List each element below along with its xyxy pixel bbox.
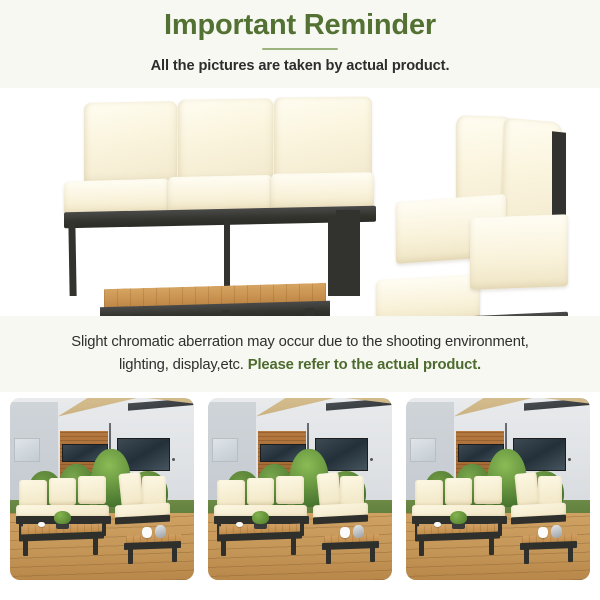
- thumb-coffee-table-leg-l: [23, 538, 29, 556]
- thumb-teacup: [236, 522, 243, 527]
- thumb-coffee-table-leg-r: [489, 536, 495, 554]
- thumb-side-table-leg-l: [326, 547, 332, 563]
- header-subtitle: All the pictures are taken by actual pro…: [151, 58, 450, 74]
- thumb-coffee-table-leg-r: [291, 536, 297, 554]
- sofa-leg-right: [328, 216, 336, 296]
- window-left: [410, 438, 436, 462]
- thumbnail-row: [0, 398, 600, 590]
- sofa-seat-cushion-3: [271, 172, 374, 210]
- chaise-seat-cushion-outer: [376, 274, 480, 316]
- sofa-back-cushion-1: [84, 101, 177, 185]
- wall-fixture-2: [370, 458, 373, 461]
- page-title: Important Reminder: [164, 10, 436, 42]
- thumb-coffee-table-leg-l: [221, 538, 227, 556]
- thumb-sofa-back-3: [276, 476, 304, 503]
- thumb-pitcher: [142, 527, 151, 538]
- disclaimer-text: Slight chromatic aberration may occur du…: [26, 331, 574, 377]
- thumb-sofa-back-1: [217, 480, 245, 507]
- sofa-back-cushion-2: [178, 98, 273, 183]
- thumb-sofa-back-1: [415, 480, 443, 507]
- thumb-coffee-table-leg-r: [93, 536, 99, 554]
- thumb-plant: [252, 511, 269, 524]
- header-band: Important Reminder All the pictures are …: [0, 0, 600, 88]
- sofa-back-cushion-3: [274, 97, 372, 184]
- thumb-chaise-back: [515, 472, 540, 507]
- thumb-side-table-leg-r: [568, 545, 574, 561]
- lifestyle-thumbnail-3[interactable]: [406, 398, 590, 580]
- thumb-teacup: [38, 522, 45, 527]
- thumb-chaise-back: [317, 472, 342, 507]
- wall-fixture-2: [568, 458, 571, 461]
- thumb-plant: [450, 511, 467, 524]
- sofa-side-panel: [336, 210, 360, 296]
- thumb-plant: [54, 511, 71, 524]
- coffee-table-leg-right: [305, 308, 314, 316]
- lifestyle-thumbnail-1[interactable]: [10, 398, 194, 580]
- lifestyle-thumbnail-2[interactable]: [208, 398, 392, 580]
- sofa-seat-cushion-2: [168, 175, 272, 212]
- thumb-side-table-leg-l: [524, 547, 530, 563]
- window-left: [14, 438, 40, 462]
- hero-product-image: [0, 88, 600, 316]
- disclaimer-accent: Please refer to the actual product.: [248, 357, 481, 373]
- sofa-leg-mid: [224, 218, 230, 292]
- thumb-pitcher: [538, 527, 547, 538]
- thumb-chaise-back: [119, 472, 144, 507]
- reminder-infographic: Important Reminder All the pictures are …: [0, 0, 600, 600]
- disclaimer-line-2-normal: lighting, display,etc.: [119, 357, 248, 373]
- thumb-sofa-back-2: [49, 478, 77, 505]
- thumb-sofa-back-3: [474, 476, 502, 503]
- thumb-sofa-back-1: [19, 480, 47, 507]
- thumb-pitcher: [340, 527, 349, 538]
- chaise-seat-cushion-inner: [470, 214, 568, 289]
- disclaimer-band: Slight chromatic aberration may occur du…: [0, 316, 600, 392]
- title-divider: [262, 48, 338, 50]
- disclaimer-line-1: Slight chromatic aberration may occur du…: [71, 334, 529, 350]
- thumb-sofa-back-3: [78, 476, 106, 503]
- thumb-side-table-leg-r: [172, 545, 178, 561]
- sofa-leg-left: [68, 222, 76, 296]
- thumb-sofa-back-2: [445, 478, 473, 505]
- wall-fixture-2: [172, 458, 175, 461]
- thumb-coffee-table-leg-l: [419, 538, 425, 556]
- window-left: [212, 438, 238, 462]
- thumb-teacup: [434, 522, 441, 527]
- sofa-set-illustration: [0, 88, 600, 316]
- thumb-side-table-leg-l: [128, 547, 134, 563]
- thumb-side-table-leg-r: [370, 545, 376, 561]
- thumb-sofa-back-2: [247, 478, 275, 505]
